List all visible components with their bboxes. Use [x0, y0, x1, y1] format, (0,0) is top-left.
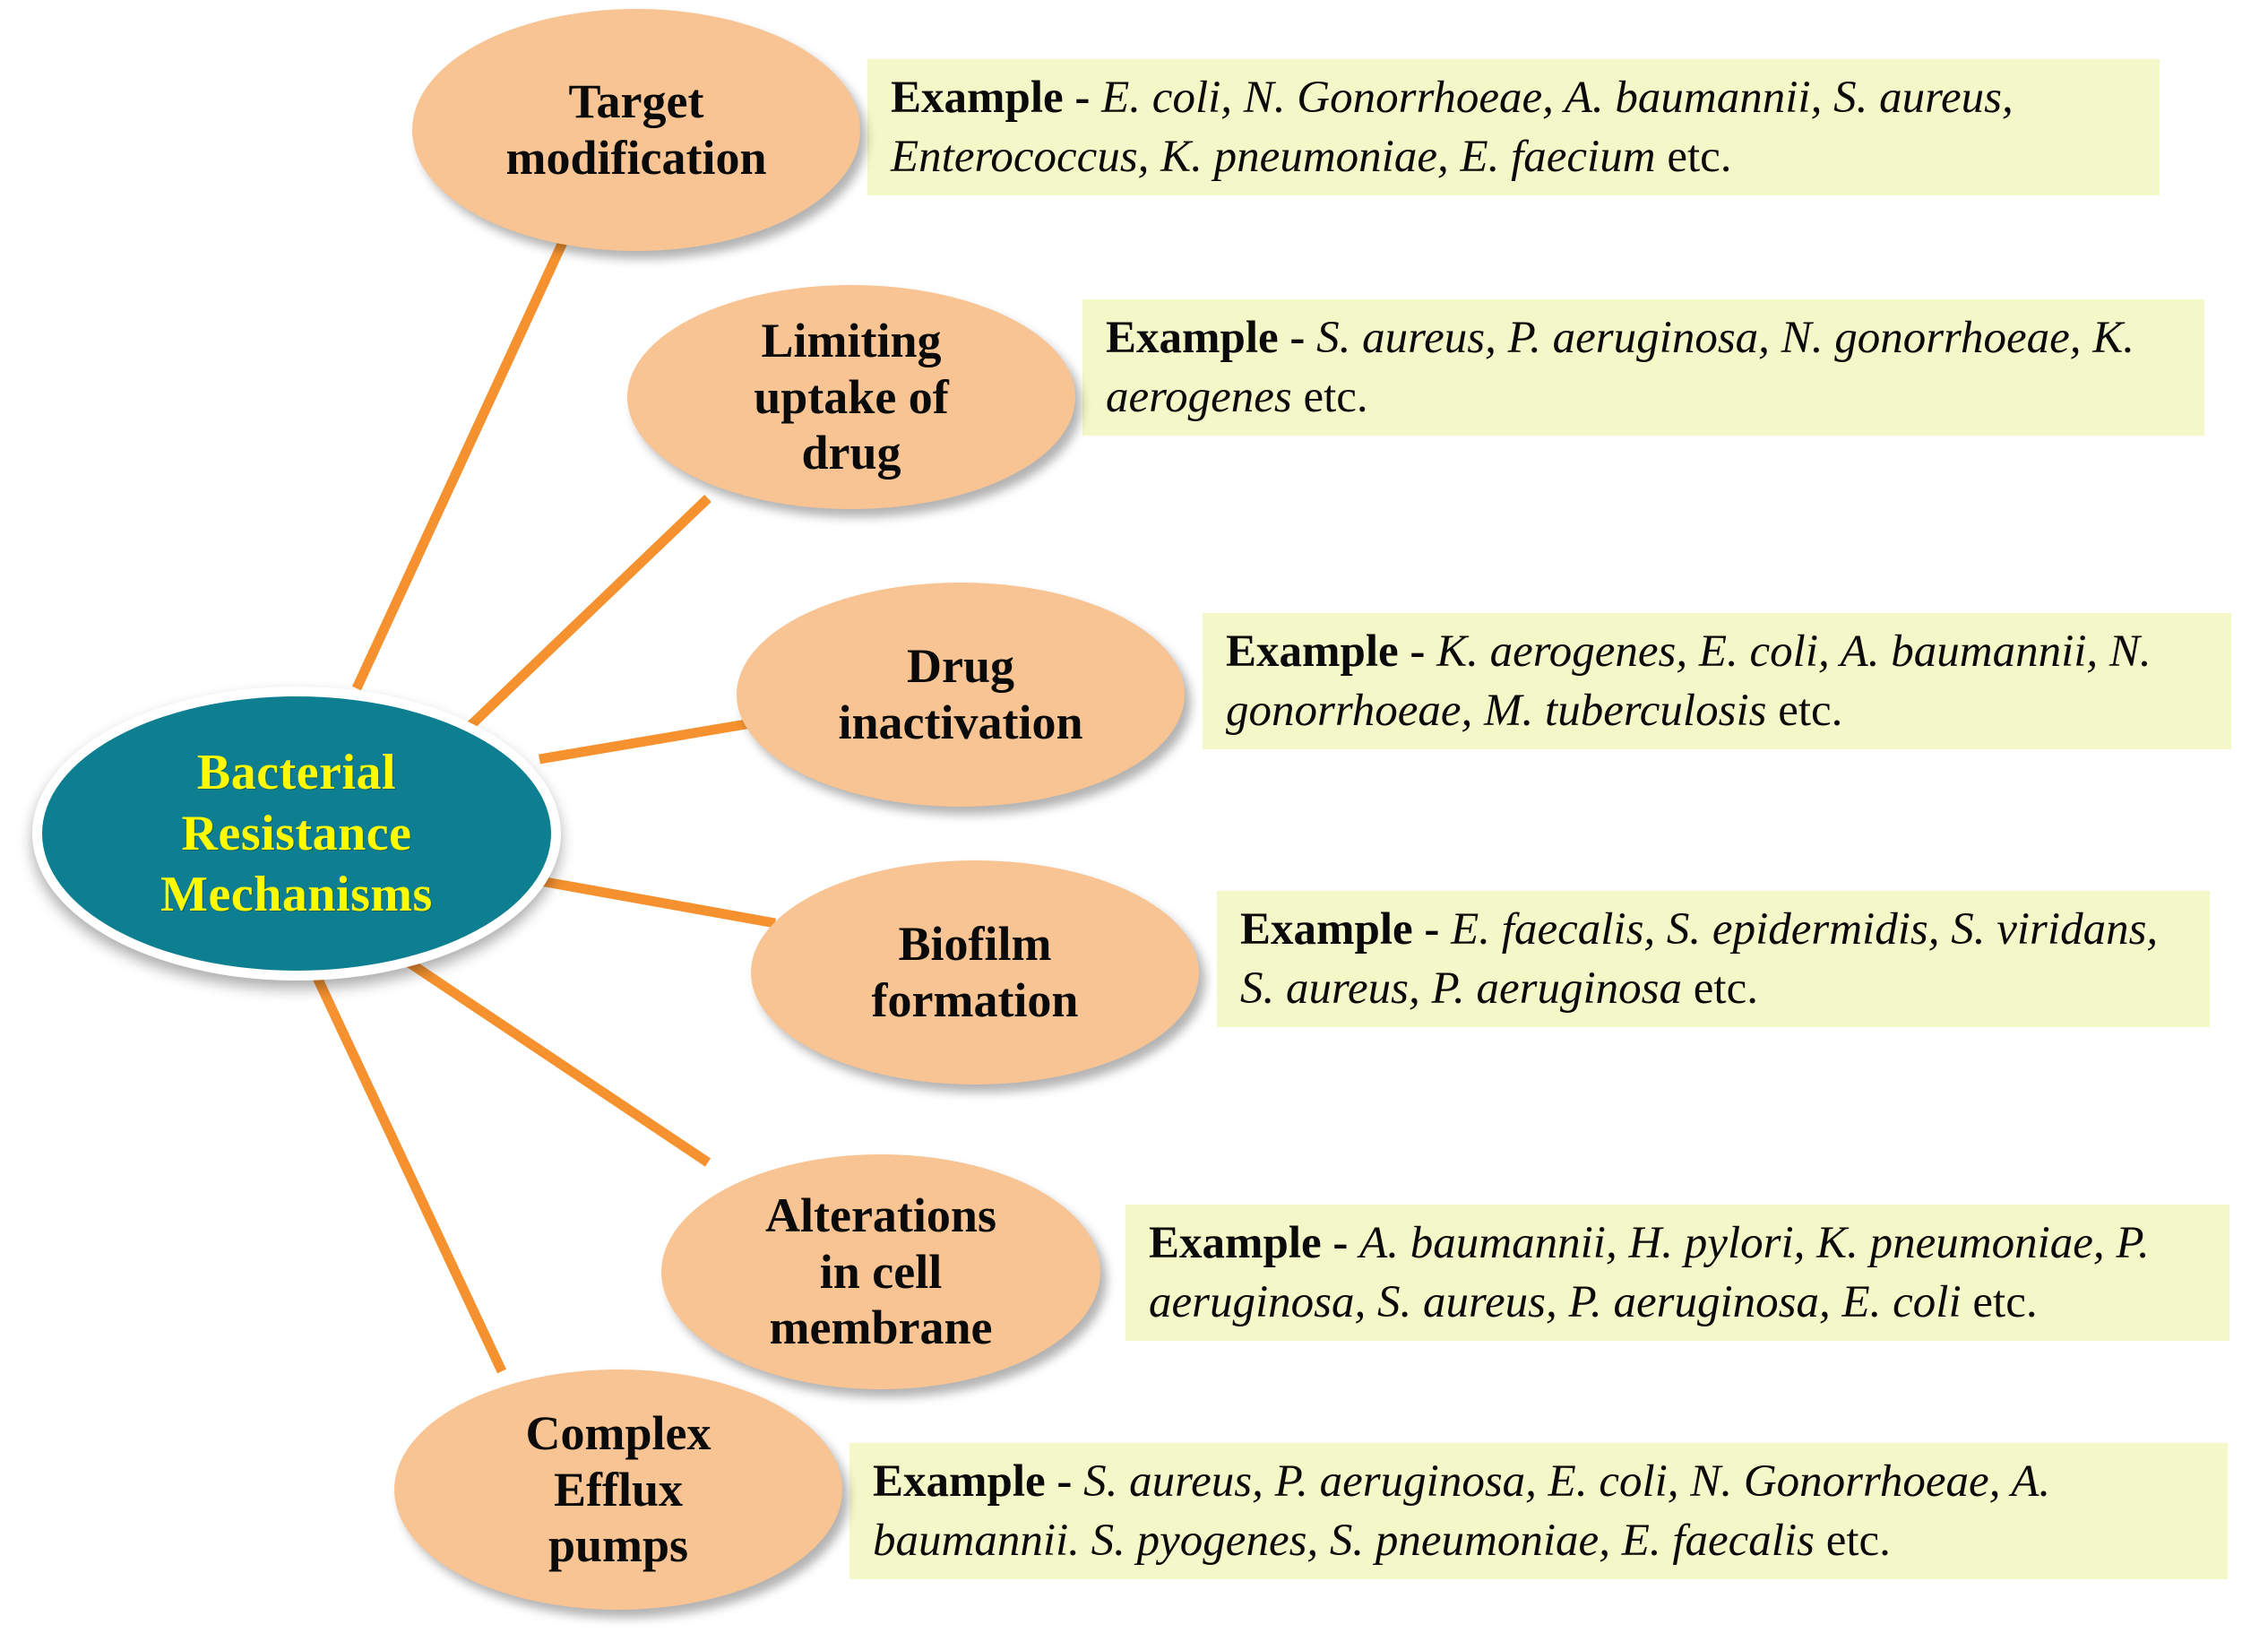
example-text-drug-inactivation: Example - K. aerogenes, E. coli, A. baum… — [1203, 622, 2231, 741]
example-etc: etc. — [1766, 686, 1842, 736]
example-lead: Example — [873, 1456, 1046, 1507]
example-dash: - — [1413, 904, 1451, 955]
example-etc: etc. — [1962, 1277, 2038, 1327]
example-etc: etc. — [1682, 963, 1758, 1014]
node-label-line-1: Complex — [526, 1405, 711, 1462]
example-lead: Example — [1106, 313, 1279, 363]
connector-limiting-uptake — [436, 498, 708, 758]
node-drug-inactivation-label: Drug inactivation — [824, 638, 1097, 750]
central-node-line-3: Mechanisms — [160, 864, 433, 925]
example-box-biofilm-formation: Example - E. faecalis, S. epidermidis, S… — [1217, 891, 2210, 1027]
node-alterations-in-cell-membrane-label: Alterations in cell membrane — [751, 1188, 1011, 1356]
node-label-line-1: Alterations — [765, 1188, 996, 1244]
example-etc: etc. — [1656, 132, 1732, 182]
diagram-canvas: Bacterial Resistance Mechanisms Target m… — [0, 0, 2268, 1633]
example-box-target-modification: Example - E. coli, N. Gonorrhoeae, A. ba… — [867, 59, 2160, 195]
connector-target-modification — [357, 227, 570, 688]
node-biofilm-formation[interactable]: Biofilm formation — [751, 860, 1199, 1084]
example-dash: - — [1279, 313, 1316, 363]
node-label-line-3: pumps — [526, 1517, 711, 1574]
example-lead: Example — [1240, 904, 1413, 955]
example-text-alterations-in-cell-membrane: Example - A. baumannii, H. pylori, K. pn… — [1125, 1214, 2229, 1333]
example-dash: - — [1399, 626, 1436, 677]
example-box-alterations-in-cell-membrane: Example - A. baumannii, H. pylori, K. pn… — [1125, 1205, 2229, 1341]
central-node-bacterial-resistance-mechanisms[interactable]: Bacterial Resistance Mechanisms — [32, 687, 561, 981]
connector-biofilm-formation — [540, 881, 775, 923]
node-label-line-2: formation — [872, 972, 1079, 1029]
connector-complex-efflux-pumps — [312, 966, 502, 1371]
node-label-line-3: drug — [754, 425, 949, 481]
example-dash: - — [1064, 73, 1101, 123]
node-label-line-1: Drug — [838, 638, 1082, 695]
node-complex-efflux-pumps[interactable]: Complex Efflux pumps — [394, 1369, 842, 1610]
central-node-label: Bacterial Resistance Mechanisms — [160, 742, 433, 926]
node-alterations-in-cell-membrane[interactable]: Alterations in cell membrane — [661, 1154, 1100, 1389]
example-etc: etc. — [1292, 372, 1368, 422]
example-dash: - — [1322, 1218, 1359, 1268]
node-label-line-3: membrane — [765, 1300, 996, 1356]
example-box-complex-efflux-pumps: Example - S. aureus, P. aeruginosa, E. c… — [849, 1443, 2228, 1579]
example-text-limiting-uptake-of-drug: Example - S. aureus, P. aeruginosa, N. g… — [1082, 308, 2204, 428]
central-node-line-1: Bacterial — [160, 742, 433, 803]
node-label-line-2: inactivation — [838, 695, 1082, 751]
example-lead: Example — [891, 73, 1064, 123]
node-label-line-1: Target — [506, 73, 767, 130]
node-label-line-2: uptake of — [754, 369, 949, 426]
connector-alterations-cell-membrane — [394, 953, 708, 1162]
node-label-line-1: Biofilm — [872, 916, 1079, 972]
example-lead: Example — [1149, 1218, 1322, 1268]
example-dash: - — [1046, 1456, 1083, 1507]
node-biofilm-formation-label: Biofilm formation — [858, 916, 1093, 1028]
node-drug-inactivation[interactable]: Drug inactivation — [737, 583, 1185, 807]
node-label-line-2: in cell — [765, 1244, 996, 1300]
node-target-modification-label: Target modification — [492, 73, 781, 186]
example-text-target-modification: Example - E. coli, N. Gonorrhoeae, A. ba… — [867, 68, 2160, 187]
example-lead: Example — [1226, 626, 1399, 677]
central-node-line-2: Resistance — [160, 803, 433, 864]
node-label-line-2: modification — [506, 130, 767, 186]
example-text-biofilm-formation: Example - E. faecalis, S. epidermidis, S… — [1217, 900, 2210, 1019]
node-limiting-uptake-of-drug-label: Limiting uptake of drug — [739, 313, 963, 481]
example-box-limiting-uptake-of-drug: Example - S. aureus, P. aeruginosa, N. g… — [1082, 299, 2204, 436]
example-etc: etc. — [1815, 1516, 1891, 1566]
node-label-line-2: Efflux — [526, 1462, 711, 1518]
node-label-line-1: Limiting — [754, 313, 949, 369]
example-box-drug-inactivation: Example - K. aerogenes, E. coli, A. baum… — [1203, 613, 2231, 749]
example-text-complex-efflux-pumps: Example - S. aureus, P. aeruginosa, E. c… — [849, 1452, 2228, 1571]
node-target-modification[interactable]: Target modification — [412, 9, 860, 251]
node-complex-efflux-pumps-label: Complex Efflux pumps — [512, 1405, 726, 1574]
node-limiting-uptake-of-drug[interactable]: Limiting uptake of drug — [627, 285, 1075, 509]
